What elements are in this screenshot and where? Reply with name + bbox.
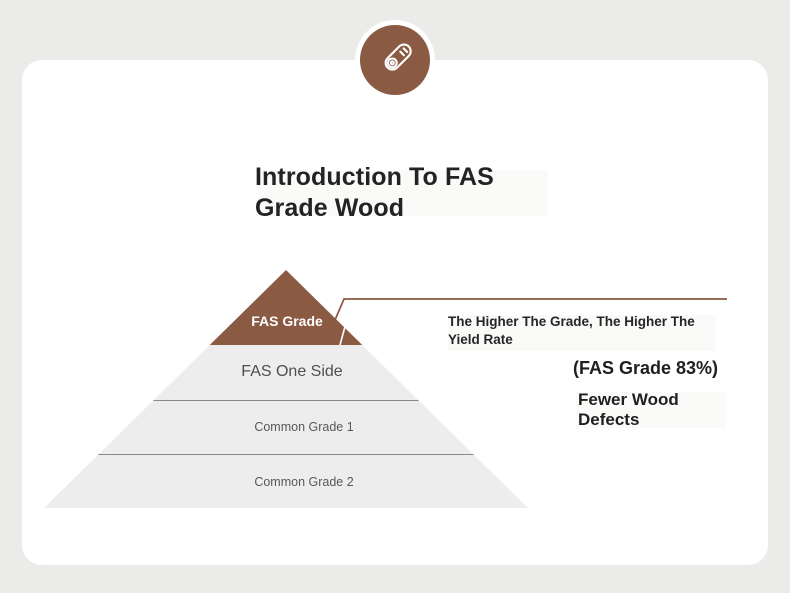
- callout-percent-text: (FAS Grade 83%): [573, 358, 718, 379]
- pyramid-label-common-grade-2: Common Grade 2: [254, 475, 353, 489]
- page-title-block: Introduction To FAS Grade Wood: [255, 162, 555, 224]
- badge-circle: [360, 25, 430, 95]
- callout-yield-text: The Higher The Grade, The Higher The Yie…: [448, 313, 706, 349]
- pyramid-label-fas-one-side: FAS One Side: [241, 363, 342, 381]
- callout-defects-text: Fewer Wood Defects: [578, 390, 718, 431]
- slide-canvas: Introduction To FAS Grade Wood FAS Grade…: [0, 0, 790, 593]
- wood-log-badge: [355, 20, 435, 100]
- pyramid-label-common-grade-1: Common Grade 1: [254, 420, 353, 434]
- pyramid-label-fas-grade: FAS Grade: [251, 313, 323, 329]
- wood-log-icon: [374, 39, 416, 81]
- page-title: Introduction To FAS Grade Wood: [255, 162, 555, 224]
